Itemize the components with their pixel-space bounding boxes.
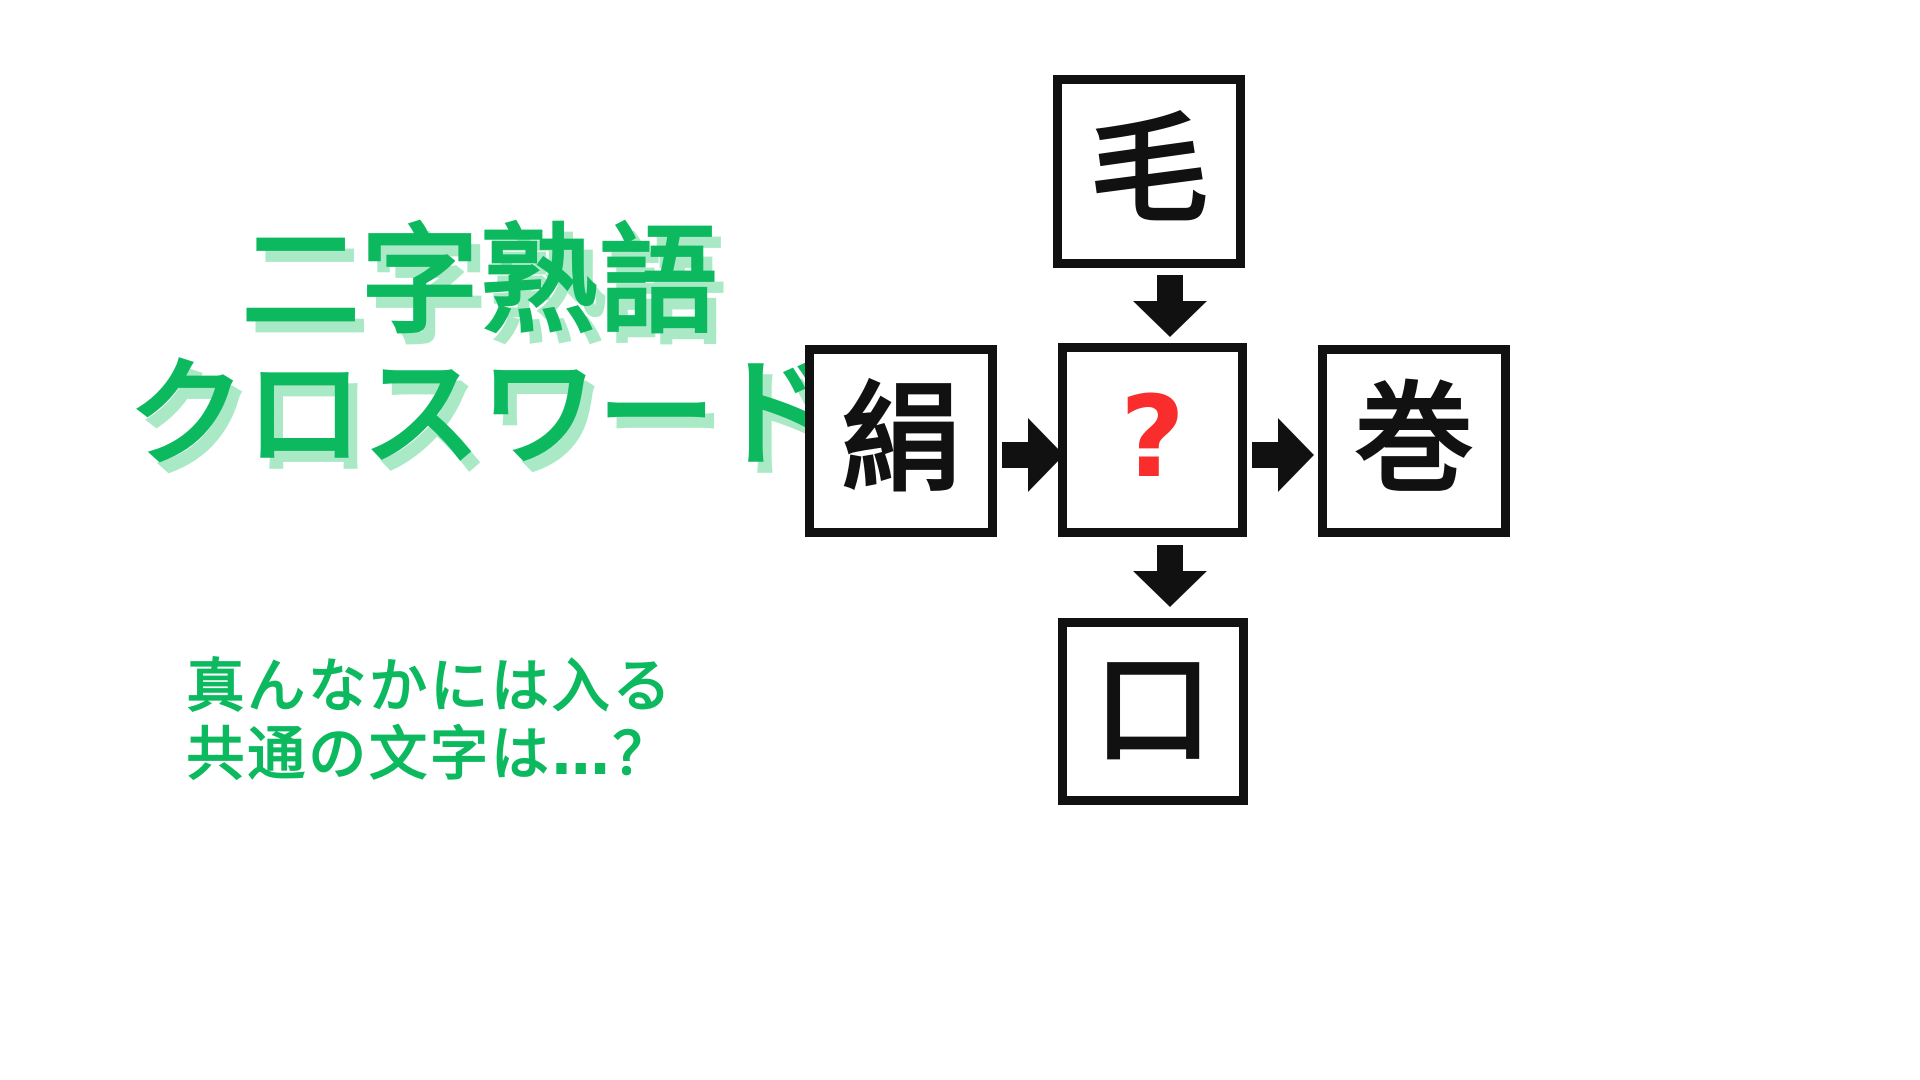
subhead-line-1: 真んなかには入る	[0, 652, 860, 720]
arrow-right-icon-left	[1002, 412, 1064, 498]
puzzle-cell-top-glyph: 毛	[1090, 111, 1208, 229]
puzzle-cell-bottom[interactable]: 口	[1058, 618, 1248, 805]
subhead-line-2: 共通の文字は…？	[0, 720, 860, 788]
puzzle-cell-right-glyph: 巻	[1355, 380, 1473, 498]
arrow-right-icon-center	[1252, 412, 1314, 498]
puzzle-cell-left[interactable]: 絹	[805, 345, 997, 537]
puzzle-cell-left-glyph: 絹	[842, 380, 960, 498]
kanji-crossword-diagram: 毛 絹 ? 巻	[790, 60, 1550, 830]
puzzle-cell-top[interactable]: 毛	[1053, 75, 1245, 268]
slide-canvas: 二字熟語 クロスワード 真んなかには入る 共通の文字は…？ 毛 絹 ?	[0, 0, 1920, 1080]
arrow-down-icon-top	[1127, 275, 1213, 337]
puzzle-cell-center[interactable]: ?	[1058, 343, 1247, 537]
puzzle-cell-center-glyph: ?	[1120, 382, 1185, 494]
subhead-block: 真んなかには入る 共通の文字は…？	[0, 652, 860, 789]
arrow-down-icon-bottom	[1127, 545, 1213, 607]
puzzle-cell-bottom-glyph: 口	[1094, 651, 1212, 769]
puzzle-cell-right[interactable]: 巻	[1318, 345, 1510, 537]
